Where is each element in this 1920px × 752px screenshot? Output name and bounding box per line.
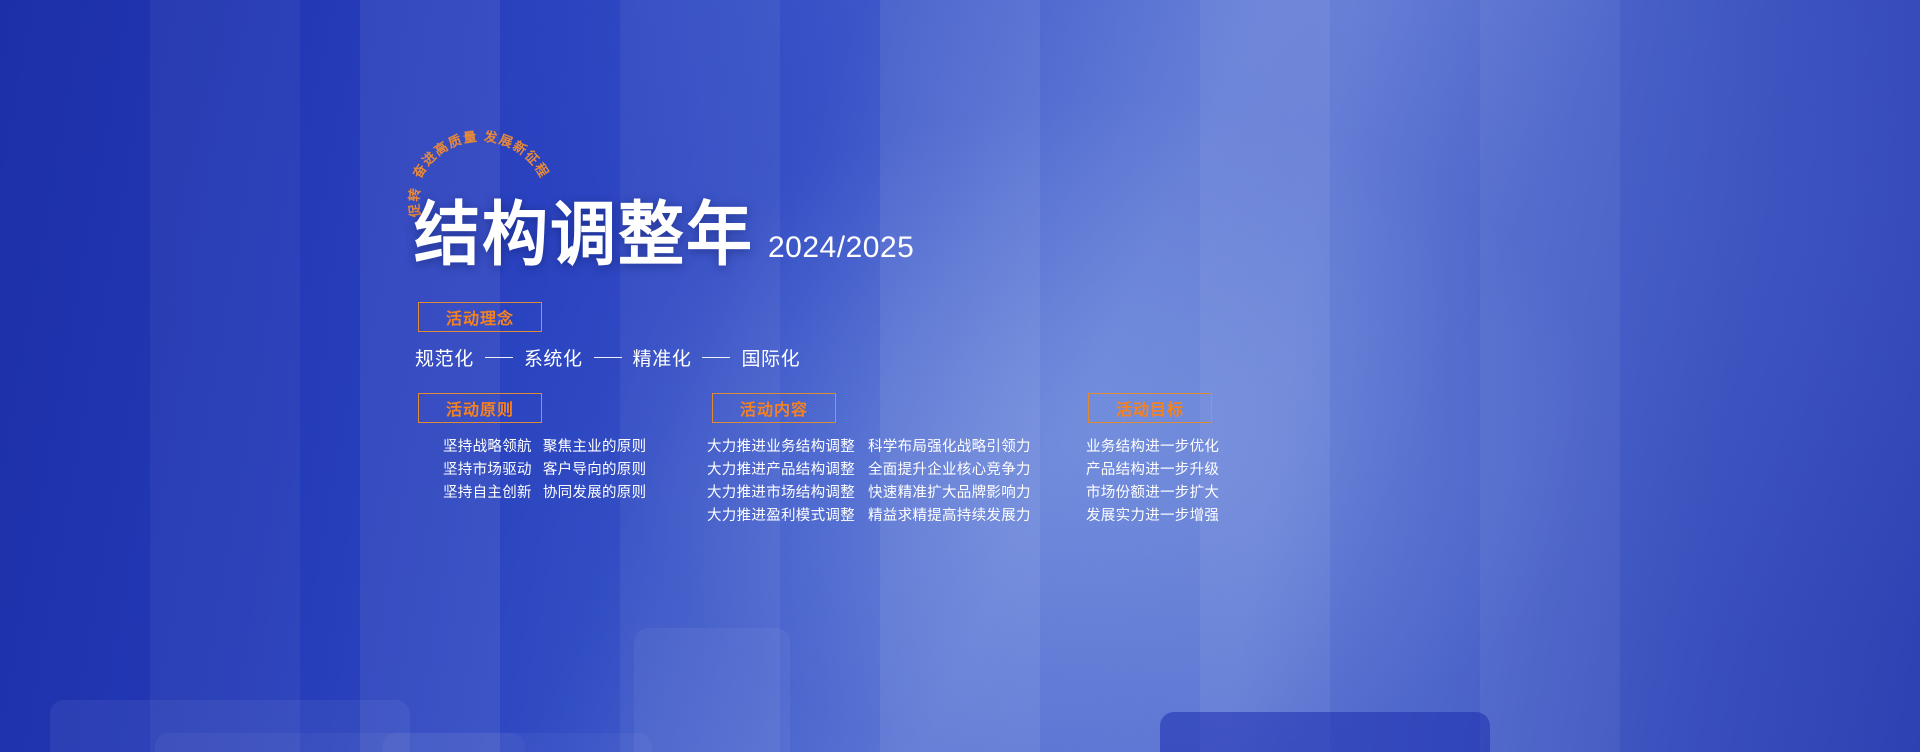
row-left: 市场份额进一步扩大 [1086, 482, 1219, 505]
banner-poster: 奋进高质量 发展新征程 赋能新质 促转型 增动能 结构调整年 2024/2025… [0, 0, 1920, 752]
row-right: 聚焦主业的原则 [543, 436, 647, 459]
badge-label: 活动原则 [446, 396, 514, 420]
concept-item-3: 国际化 [741, 344, 800, 371]
column-activity-principle: 坚持战略领航 聚焦主业的原则 坚持市场驱动 客户导向的原则 坚持自主创新 协同发… [443, 436, 646, 505]
row-right: 客户导向的原则 [543, 459, 647, 482]
row-left: 大力推进业务结构调整 [707, 436, 855, 459]
row-left: 大力推进产品结构调整 [707, 459, 855, 482]
list-item: 发展实力进一步增强 [1086, 505, 1219, 528]
badge-activity-content[interactable]: 活动内容 [712, 393, 836, 423]
row-right: 协同发展的原则 [543, 482, 647, 505]
dash-separator-icon [594, 357, 622, 359]
background-stripes [0, 0, 1920, 752]
seal-top-text: 奋进高质量 发展新征程 [408, 128, 552, 182]
badge-activity-goal[interactable]: 活动目标 [1088, 393, 1212, 423]
concept-item-1: 系统化 [524, 344, 583, 371]
decor-block-3 [382, 733, 652, 752]
row-right: 科学布局强化战略引领力 [868, 436, 1031, 459]
row-left: 业务结构进一步优化 [1086, 436, 1219, 459]
row-left: 坚持自主创新 [443, 482, 532, 505]
list-item: 大力推进业务结构调整 科学布局强化战略引领力 [707, 436, 1031, 459]
page-title: 结构调整年 [414, 200, 754, 270]
badge-activity-principle[interactable]: 活动原则 [418, 393, 542, 423]
decor-block-2 [155, 733, 525, 752]
badge-label: 活动理念 [446, 305, 514, 329]
row-right: 全面提升企业核心竞争力 [868, 459, 1031, 482]
list-item: 产品结构进一步升级 [1086, 459, 1219, 482]
row-left: 产品结构进一步升级 [1086, 459, 1219, 482]
badge-label: 活动内容 [740, 396, 808, 420]
decor-block-5 [634, 628, 790, 752]
column-activity-goal: 业务结构进一步优化 产品结构进一步升级 市场份额进一步扩大 发展实力进一步增强 [1086, 436, 1219, 528]
row-left: 坚持战略领航 [443, 436, 532, 459]
list-item: 大力推进盈利模式调整 精益求精提高持续发展力 [707, 505, 1031, 528]
concept-item-0: 规范化 [415, 344, 474, 371]
row-right: 精益求精提高持续发展力 [868, 505, 1031, 528]
concept-list: 规范化 系统化 精准化 国际化 [415, 344, 800, 371]
row-left: 大力推进市场结构调整 [707, 482, 855, 505]
background-glow [0, 0, 1920, 752]
background-diagonal-light [0, 0, 1920, 752]
decor-block-1 [50, 700, 410, 752]
row-left: 坚持市场驱动 [443, 459, 532, 482]
list-item: 市场份额进一步扩大 [1086, 482, 1219, 505]
list-item: 大力推进产品结构调整 全面提升企业核心竞争力 [707, 459, 1031, 482]
list-item: 大力推进市场结构调整 快速精准扩大品牌影响力 [707, 482, 1031, 505]
list-item: 坚持自主创新 协同发展的原则 [443, 482, 646, 505]
badge-label: 活动目标 [1116, 396, 1184, 420]
dash-separator-icon [485, 357, 513, 359]
row-left: 发展实力进一步增强 [1086, 505, 1219, 528]
year-range: 2024/2025 [768, 233, 914, 270]
concept-item-2: 精准化 [633, 344, 692, 371]
dash-separator-icon [702, 357, 730, 359]
column-activity-content: 大力推进业务结构调整 科学布局强化战略引领力 大力推进产品结构调整 全面提升企业… [707, 436, 1031, 528]
headline: 结构调整年 2024/2025 [414, 204, 914, 270]
list-item: 坚持战略领航 聚焦主业的原则 [443, 436, 646, 459]
list-item: 业务结构进一步优化 [1086, 436, 1219, 459]
badge-activity-concept[interactable]: 活动理念 [418, 302, 542, 332]
row-left: 大力推进盈利模式调整 [707, 505, 855, 528]
list-item: 坚持市场驱动 客户导向的原则 [443, 459, 646, 482]
row-right: 快速精准扩大品牌影响力 [868, 482, 1031, 505]
decor-block-4 [1160, 712, 1490, 752]
